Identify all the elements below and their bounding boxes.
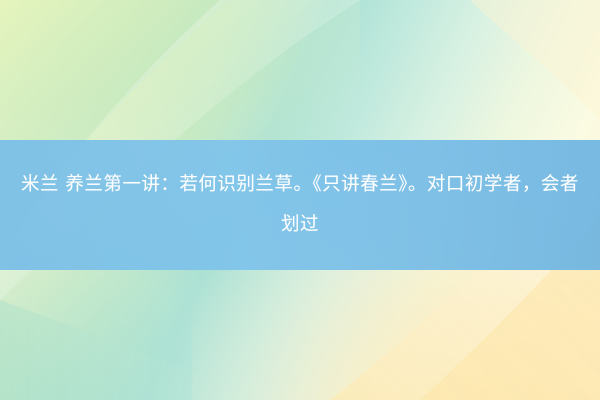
image-canvas: 米兰 养兰第一讲：若何识别兰草。《只讲春兰》。对口初学者，会者划过 [0,0,600,400]
caption-text: 米兰 养兰第一讲：若何识别兰草。《只讲春兰》。对口初学者，会者划过 [14,165,586,245]
caption-banner: 米兰 养兰第一讲：若何识别兰草。《只讲春兰》。对口初学者，会者划过 [0,140,600,270]
